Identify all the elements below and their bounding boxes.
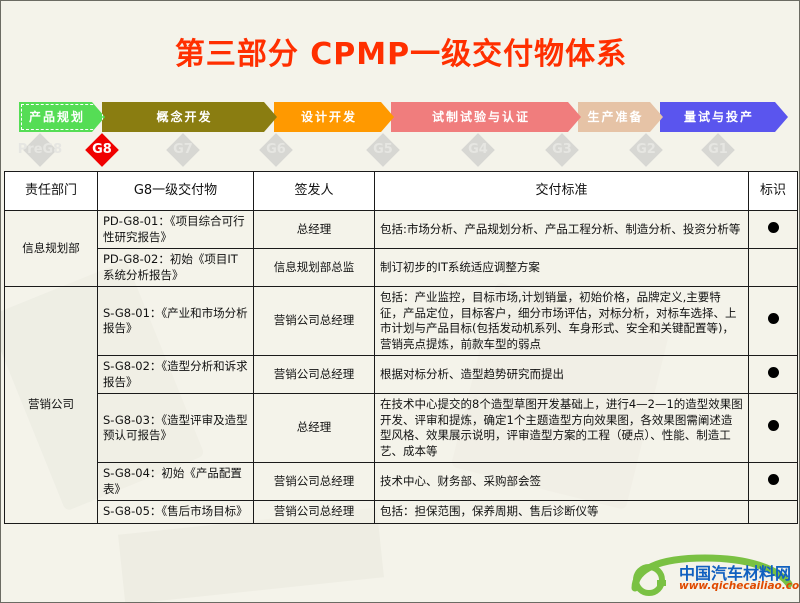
filled-circle-icon — [768, 474, 779, 485]
gate-marker-label: G6 — [247, 133, 305, 167]
table-row: S-G8-05：《售后市场目标》营销公司总经理包括：担保范围，保养周期、售后诊断… — [5, 501, 798, 524]
cell-standard: 根据对标分析、造型趋势研究而提出 — [375, 356, 749, 394]
cell-mark — [749, 394, 798, 463]
logo-url: www.qichecailiao.com — [679, 580, 800, 592]
cell-issuer: 营销公司总经理 — [254, 287, 375, 356]
cell-issuer: 营销公司总经理 — [254, 356, 375, 394]
cell-mark — [749, 287, 798, 356]
gate-marker-label: G5 — [354, 133, 412, 167]
cell-issuer: 总经理 — [254, 211, 375, 249]
table-row: S-G8-03：《造型评审及造型预认可报告》总经理在技术中心提交的8个造型草图开… — [5, 394, 798, 463]
cell-standard: 在技术中心提交的8个造型草图开发基础上，进行4—2—1的造型效果图开发、评审和提… — [375, 394, 749, 463]
table-row: 信息规划部PD-G8-01：《项目综合可行性研究报告》总经理包括:市场分析、产品… — [5, 211, 798, 249]
phase-chevron-label: 生产准备 — [578, 102, 663, 132]
cell-standard: 包括:市场分析、产品规划分析、产品工程分析、制造分析、投资分析等 — [375, 211, 749, 249]
gate-marker-label: G1 — [689, 133, 747, 167]
gate-marker-label: G4 — [449, 133, 507, 167]
table-row: S-G8-02：《造型分析和诉求报告》营销公司总经理根据对标分析、造型趋势研究而… — [5, 356, 798, 394]
gate-marker-label: G8 — [73, 133, 131, 167]
gate-marker-label: G3 — [533, 133, 591, 167]
process-phase-flow: 产品规划概念开发设计开发试制试验与认证生产准备量试与投产 — [19, 102, 783, 132]
cell-mark — [749, 501, 798, 524]
gate-marker-label: PreG8 — [5, 133, 75, 167]
cell-mark — [749, 211, 798, 249]
table-header: 责任部门 G8一级交付物 签发人 交付标准 标识 — [5, 172, 798, 211]
filled-circle-icon — [768, 222, 779, 233]
gate-marker-label: G7 — [154, 133, 212, 167]
cell-mark — [749, 249, 798, 287]
page-title: 第三部分 CPMP一级交付物体系 — [1, 29, 800, 73]
cell-standard: 制订初步的IT系统适应调整方案 — [375, 249, 749, 287]
cell-issuer: 营销公司总经理 — [254, 463, 375, 501]
cell-standard: 技术中心、财务部、采购部会签 — [375, 463, 749, 501]
phase-chevron-4: 试制试验与认证 — [391, 102, 581, 132]
slide-canvas: 第三部分 CPMP一级交付物体系 产品规划概念开发设计开发试制试验与认证生产准备… — [0, 0, 800, 603]
cell-issuer: 总经理 — [254, 394, 375, 463]
phase-chevron-label: 设计开发 — [274, 102, 394, 132]
cell-issuer: 信息规划部总监 — [254, 249, 375, 287]
cell-department: 信息规划部 — [5, 211, 98, 287]
table-row: S-G8-04：初始《产品配置表》营销公司总经理技术中心、财务部、采购部会签 — [5, 463, 798, 501]
column-header-department: 责任部门 — [5, 172, 98, 211]
phase-chevron-label: 产品规划 — [19, 102, 105, 132]
gate-marker-label: G2 — [617, 133, 675, 167]
gate-marker-g1: G1 — [701, 133, 735, 167]
gate-marker-g8: G8 — [85, 133, 119, 167]
phase-chevron-5: 生产准备 — [578, 102, 663, 132]
gate-marker-g4: G4 — [461, 133, 495, 167]
phase-chevron-6: 量试与投产 — [660, 102, 788, 132]
cell-issuer: 营销公司总经理 — [254, 501, 375, 524]
cell-department: 营销公司 — [5, 287, 98, 524]
table-header-row: 责任部门 G8一级交付物 签发人 交付标准 标识 — [5, 172, 798, 211]
gate-marker-preg8: PreG8 — [23, 133, 57, 167]
gate-marker-g6: G6 — [259, 133, 293, 167]
cell-standard: 包括：产业监控，目标市场,计划销量，初始价格，品牌定义,主要特征，产品定位，目标… — [375, 287, 749, 356]
gate-milestone-row: PreG8G8G7G6G5G4G3G2G1 — [1, 133, 800, 167]
cell-mark — [749, 463, 798, 501]
column-header-issuer: 签发人 — [254, 172, 375, 211]
gate-marker-g5: G5 — [366, 133, 400, 167]
cell-deliverable: PD-G8-01：《项目综合可行性研究报告》 — [98, 211, 254, 249]
cell-deliverable: S-G8-03：《造型评审及造型预认可报告》 — [98, 394, 254, 463]
deliverables-table: 责任部门 G8一级交付物 签发人 交付标准 标识 信息规划部PD-G8-01：《… — [4, 171, 798, 524]
cell-deliverable: S-G8-01：《产业和市场分析报告》 — [98, 287, 254, 356]
cell-deliverable: S-G8-05：《售后市场目标》 — [98, 501, 254, 524]
table-body: 信息规划部PD-G8-01：《项目综合可行性研究报告》总经理包括:市场分析、产品… — [5, 211, 798, 524]
table-row: PD-G8-02：初始《项目IT系统分析报告》信息规划部总监制订初步的IT系统适… — [5, 249, 798, 287]
phase-chevron-1: 产品规划 — [19, 102, 105, 132]
phase-chevron-2: 概念开发 — [102, 102, 277, 132]
gate-marker-g2: G2 — [629, 133, 663, 167]
phase-chevron-label: 概念开发 — [102, 102, 277, 132]
cell-mark — [749, 356, 798, 394]
cell-deliverable: S-G8-04：初始《产品配置表》 — [98, 463, 254, 501]
table-row: 营销公司S-G8-01：《产业和市场分析报告》营销公司总经理包括：产业监控，目标… — [5, 287, 798, 356]
gate-marker-g7: G7 — [166, 133, 200, 167]
filled-circle-icon — [768, 367, 779, 378]
column-header-deliverable: G8一级交付物 — [98, 172, 254, 211]
cell-deliverable: S-G8-02：《造型分析和诉求报告》 — [98, 356, 254, 394]
filled-circle-icon — [768, 420, 779, 431]
site-logo: 中国汽车材料网 www.qichecailiao.com — [627, 554, 795, 600]
phase-chevron-label: 量试与投产 — [660, 102, 788, 132]
column-header-standard: 交付标准 — [375, 172, 749, 211]
phase-chevron-label: 试制试验与认证 — [391, 102, 581, 132]
cell-deliverable: PD-G8-02：初始《项目IT系统分析报告》 — [98, 249, 254, 287]
column-header-mark: 标识 — [749, 172, 798, 211]
phase-chevron-3: 设计开发 — [274, 102, 394, 132]
filled-circle-icon — [768, 313, 779, 324]
gate-marker-g3: G3 — [545, 133, 579, 167]
cell-standard: 包括：担保范围，保养周期、售后诊断仪等 — [375, 501, 749, 524]
